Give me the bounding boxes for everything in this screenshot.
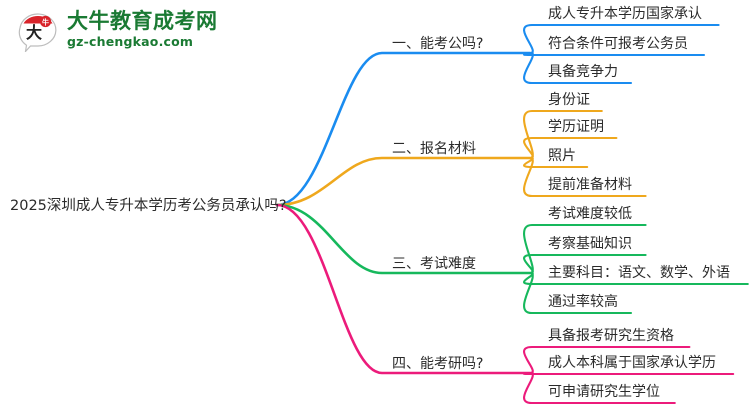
leaf-label-3-2: 考察基础知识 — [548, 235, 632, 252]
branch-label-4: 四、能考研吗? — [392, 356, 483, 372]
leaf-label-4-3: 可申请研究生学位 — [548, 384, 660, 400]
leaf-label-1-2: 符合条件可报考公务员 — [548, 35, 688, 52]
branch-label-1: 一、能考公吗? — [392, 36, 483, 52]
mindmap-links — [277, 25, 748, 403]
branch-label-3: 三、考试难度 — [392, 256, 476, 272]
leaf-label-2-2: 学历证明 — [548, 119, 604, 135]
leaf-label-3-1: 考试难度较低 — [548, 206, 632, 222]
leaf-label-2-4: 提前准备材料 — [548, 176, 632, 193]
leaf-label-4-1: 具备报考研究生资格 — [548, 327, 674, 344]
mindmap-canvas: 2025深圳成人专升本学历考公务员承认吗?一、能考公吗?成人专升本学历国家承认符… — [0, 0, 750, 410]
leaf-label-3-3: 主要科目：语文、数学、外语 — [548, 265, 730, 281]
mindmap-page: 牛 大 大牛教育成考网 gz-chengkao.com 2025深圳成人专升本学… — [0, 0, 750, 410]
leaf-label-1-3: 具备竞争力 — [548, 63, 618, 80]
leaf-label-1-1: 成人专升本学历国家承认 — [548, 5, 702, 22]
branch-label-2: 二、报名材料 — [392, 141, 476, 157]
leaf-label-4-2: 成人本科属于国家承认学历 — [548, 354, 716, 371]
mindmap-labels: 2025深圳成人专升本学历考公务员承认吗?一、能考公吗?成人专升本学历国家承认符… — [10, 5, 730, 400]
leaf-label-3-4: 通过率较高 — [548, 293, 618, 310]
root-node-label: 2025深圳成人专升本学历考公务员承认吗? — [10, 197, 287, 214]
leaf-label-2-3: 照片 — [548, 148, 576, 164]
leaf-label-2-1: 身份证 — [548, 92, 590, 108]
